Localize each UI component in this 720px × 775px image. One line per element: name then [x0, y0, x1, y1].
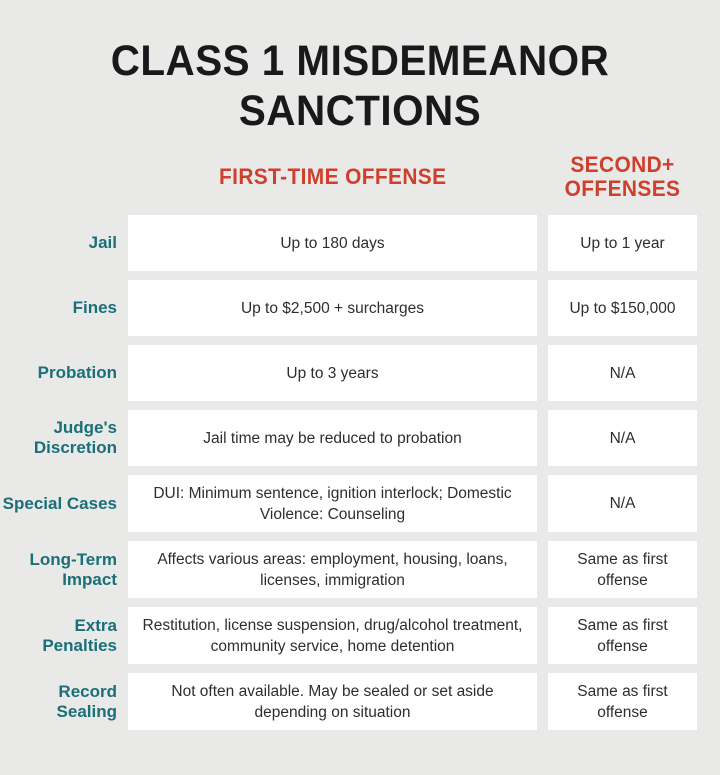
table-row: Long-Term Impact Affects various areas: …: [0, 541, 720, 598]
row-label-long-term-impact: Long-Term Impact: [0, 541, 128, 598]
title-line-2: SANCTIONS: [22, 86, 699, 136]
title-line-1: CLASS 1 MISDEMEANOR: [22, 36, 699, 86]
table-row: Fines Up to $2,500 + surcharges Up to $1…: [0, 280, 720, 336]
cell-first-offense: Jail time may be reduced to probation: [128, 410, 537, 466]
row-label-jail: Jail: [0, 215, 128, 271]
cell-second-offense: N/A: [548, 345, 697, 401]
cell-first-offense: Not often available. May be sealed or se…: [128, 673, 537, 730]
row-label-judges-discretion: Judge's Discretion: [0, 410, 128, 466]
row-label-text: Long-Term Impact: [0, 550, 117, 590]
page-title: CLASS 1 MISDEMEANOR SANCTIONS: [0, 0, 720, 136]
cell-text: Up to 180 days: [280, 233, 384, 254]
cell-text: DUI: Minimum sentence, ignition interloc…: [142, 483, 523, 525]
table-header-row: FIRST-TIME OFFENSE SECOND+ OFFENSES: [0, 148, 720, 206]
row-label-text: Jail: [89, 233, 117, 253]
column-header-first-offense: FIRST-TIME OFFENSE: [128, 148, 537, 206]
column-header-second-offense: SECOND+ OFFENSES: [548, 148, 697, 206]
cell-text: N/A: [610, 493, 636, 514]
cell-text: Affects various areas: employment, housi…: [142, 549, 523, 591]
sanctions-table: FIRST-TIME OFFENSE SECOND+ OFFENSES Jail…: [0, 148, 720, 739]
row-label-record-sealing: Record Sealing: [0, 673, 128, 730]
table-row: Special Cases DUI: Minimum sentence, ign…: [0, 475, 720, 532]
cell-text: Same as first offense: [556, 549, 689, 591]
row-label-text: Special Cases: [3, 494, 117, 514]
cell-text: Jail time may be reduced to probation: [203, 428, 461, 449]
cell-text: Up to $2,500 + surcharges: [241, 298, 424, 319]
column-header-first-offense-label: FIRST-TIME OFFENSE: [219, 165, 446, 189]
cell-first-offense: Affects various areas: employment, housi…: [128, 541, 537, 598]
row-label-fines: Fines: [0, 280, 128, 336]
infographic-root: CLASS 1 MISDEMEANOR SANCTIONS FIRST-TIME…: [0, 0, 720, 775]
cell-second-offense: Up to $150,000: [548, 280, 697, 336]
table-row: Judge's Discretion Jail time may be redu…: [0, 410, 720, 466]
row-label-text: Judge's Discretion: [0, 418, 117, 458]
cell-text: Up to 1 year: [580, 233, 664, 254]
cell-first-offense: Up to $2,500 + surcharges: [128, 280, 537, 336]
cell-first-offense: Up to 180 days: [128, 215, 537, 271]
table-row: Jail Up to 180 days Up to 1 year: [0, 215, 720, 271]
header-spacer: [0, 148, 128, 206]
cell-second-offense: Same as first offense: [548, 673, 697, 730]
cell-text: Same as first offense: [556, 681, 689, 723]
row-label-special-cases: Special Cases: [0, 475, 128, 532]
cell-text: N/A: [610, 363, 636, 384]
cell-second-offense: Same as first offense: [548, 607, 697, 664]
cell-first-offense: Up to 3 years: [128, 345, 537, 401]
cell-second-offense: N/A: [548, 410, 697, 466]
cell-second-offense: Same as first offense: [548, 541, 697, 598]
cell-second-offense: Up to 1 year: [548, 215, 697, 271]
cell-text: Up to 3 years: [286, 363, 378, 384]
table-row: Probation Up to 3 years N/A: [0, 345, 720, 401]
table-row: Extra Penalties Restitution, license sus…: [0, 607, 720, 664]
cell-text: Up to $150,000: [569, 298, 675, 319]
cell-second-offense: N/A: [548, 475, 697, 532]
cell-first-offense: Restitution, license suspension, drug/al…: [128, 607, 537, 664]
table-row: Record Sealing Not often available. May …: [0, 673, 720, 730]
cell-text: Same as first offense: [556, 615, 689, 657]
row-label-text: Fines: [73, 298, 117, 318]
cell-text: N/A: [610, 428, 636, 449]
row-label-extra-penalties: Extra Penalties: [0, 607, 128, 664]
row-label-text: Extra Penalties: [0, 616, 117, 656]
column-header-second-offense-label: SECOND+ OFFENSES: [559, 153, 685, 201]
cell-first-offense: DUI: Minimum sentence, ignition interloc…: [128, 475, 537, 532]
row-label-text: Probation: [38, 363, 117, 383]
cell-text: Restitution, license suspension, drug/al…: [142, 615, 523, 657]
row-label-text: Record Sealing: [0, 682, 117, 722]
cell-text: Not often available. May be sealed or se…: [142, 681, 523, 723]
row-label-probation: Probation: [0, 345, 128, 401]
